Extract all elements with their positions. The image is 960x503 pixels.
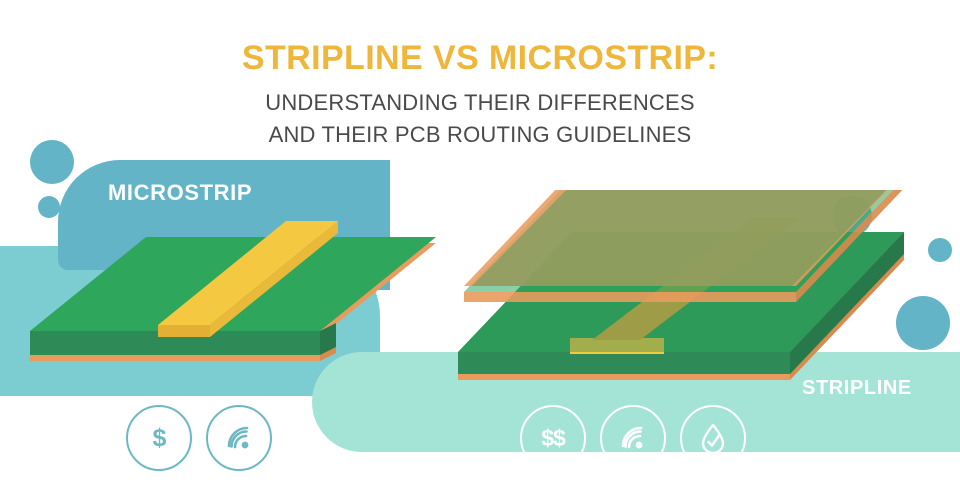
microstrip-trace-front — [158, 325, 210, 337]
microstrip-diagram — [18, 185, 438, 405]
signal-icon — [600, 405, 666, 471]
subtitle-block: UNDERSTANDING THEIR DIFFERENCES AND THEI… — [0, 87, 960, 151]
signal-icon-glyph — [616, 421, 650, 455]
dollar-icon: $ — [126, 405, 192, 471]
dollar-icon-glyph: $ — [153, 426, 166, 451]
subtitle-line-1: UNDERSTANDING THEIR DIFFERENCES — [0, 87, 960, 119]
microstrip-label: MICROSTRIP — [108, 180, 252, 206]
stripline-label: STRIPLINE — [802, 377, 912, 400]
decorative-circle-small-right — [928, 238, 952, 262]
double-dollar-icon: $$ — [520, 405, 586, 471]
double-dollar-icon-glyph: $$ — [541, 427, 565, 450]
page-title: STRIPLINE VS MICROSTRIP: — [0, 40, 960, 77]
subtitle-line-2: AND THEIR PCB ROUTING GUIDELINES — [0, 119, 960, 151]
infographic-canvas: STRIPLINE VS MICROSTRIP: UNDERSTANDING T… — [0, 0, 960, 503]
microstrip-icon-row: $ — [126, 405, 272, 471]
water-drop-check-icon — [680, 405, 746, 471]
title-block: STRIPLINE VS MICROSTRIP: UNDERSTANDING T… — [0, 40, 960, 151]
stripline-icon-row: $$ — [520, 405, 746, 471]
signal-icon — [206, 405, 272, 471]
stripline-top-copper-front — [464, 292, 796, 302]
water-drop-check-icon-glyph — [696, 421, 730, 455]
signal-icon-glyph — [222, 421, 256, 455]
stripline-lower-dielectric-front — [458, 352, 790, 374]
